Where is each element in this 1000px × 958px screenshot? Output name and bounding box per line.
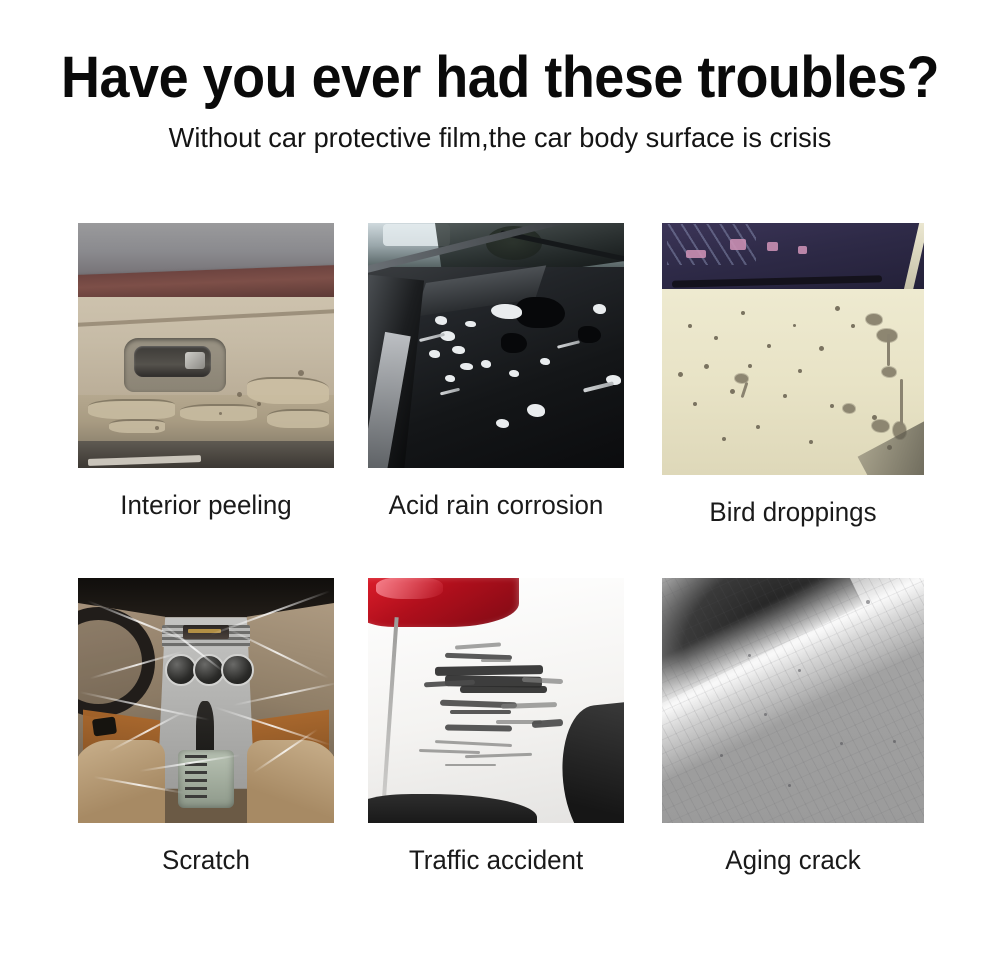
grey-paint-aging-crack-closeup-photo xyxy=(662,578,924,823)
gallery-item-traffic-accident: Traffic accident xyxy=(368,578,624,875)
gallery-item-caption: Aging crack xyxy=(667,845,919,875)
gallery-item-aging-crack: Aging crack xyxy=(662,578,924,875)
car-interior-door-panel-peeling-photo xyxy=(78,223,334,468)
gallery-row-2: Scratch xyxy=(78,578,924,888)
page-subtitle: Without car protective film,the car body… xyxy=(15,120,985,156)
gallery-item-interior-peeling: Interior peeling xyxy=(78,223,334,520)
gallery-item-caption: Interior peeling xyxy=(83,490,329,520)
car-hood-bird-droppings-photo xyxy=(662,223,924,475)
gallery-item-bird-droppings: Bird droppings xyxy=(662,223,924,527)
gallery-item-scratch: Scratch xyxy=(78,578,334,875)
gallery-row-1: Interior peeling xyxy=(78,223,924,533)
gallery-item-caption: Acid rain corrosion xyxy=(373,490,619,520)
scratch-overlay xyxy=(78,578,334,823)
gallery-item-caption: Bird droppings xyxy=(667,497,919,527)
gallery-item-caption: Scratch xyxy=(83,845,329,875)
white-car-rear-panel-scrape-photo xyxy=(368,578,624,823)
black-car-roof-acid-rain-damage-photo xyxy=(368,223,624,468)
gallery-item-caption: Traffic accident xyxy=(373,845,619,875)
car-center-console-scratches-photo xyxy=(78,578,334,823)
trouble-gallery: Interior peeling xyxy=(78,223,924,888)
gallery-item-acid-rain-corrosion: Acid rain corrosion xyxy=(368,223,624,520)
page-title: Have you ever had these troubles? xyxy=(35,46,965,110)
